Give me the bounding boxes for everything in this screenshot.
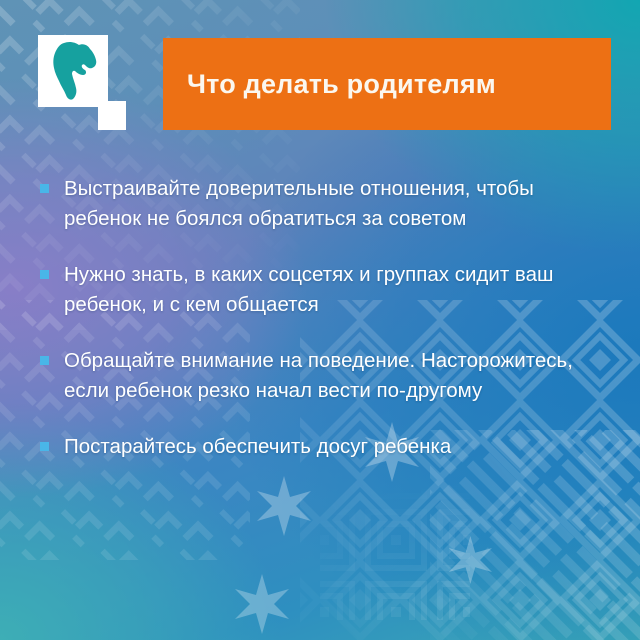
square-bullet-icon bbox=[40, 442, 49, 451]
square-bullet-icon bbox=[40, 356, 49, 365]
list-item: Постарайтесь обеспечить досуг ребенка bbox=[40, 432, 600, 462]
title-banner: Что делать родителям bbox=[163, 38, 611, 130]
advice-text: Постарайтесь обеспечить досуг ребенка bbox=[64, 432, 451, 462]
list-item: Обращайте внимание на поведение. Насторо… bbox=[40, 346, 600, 406]
page-title: Что делать родителям bbox=[163, 69, 496, 100]
list-item: Нужно знать, в каких соцсетях и группах … bbox=[40, 260, 600, 320]
square-bullet-icon bbox=[40, 184, 49, 193]
advice-list: Выстраивайте доверительные отношения, чт… bbox=[40, 174, 600, 462]
region-map-logo bbox=[38, 35, 126, 135]
list-item: Выстраивайте доверительные отношения, чт… bbox=[40, 174, 600, 234]
advice-text: Обращайте внимание на поведение. Насторо… bbox=[64, 346, 594, 406]
advice-text: Выстраивайте доверительные отношения, чт… bbox=[64, 174, 594, 234]
region-map-silhouette-icon bbox=[48, 41, 100, 101]
infographic-poster: Что делать родителям Выстраивайте довери… bbox=[0, 0, 640, 640]
advice-text: Нужно знать, в каких соцсетях и группах … bbox=[64, 260, 594, 320]
square-bullet-icon bbox=[40, 270, 49, 279]
logo-accent-square bbox=[98, 101, 126, 130]
